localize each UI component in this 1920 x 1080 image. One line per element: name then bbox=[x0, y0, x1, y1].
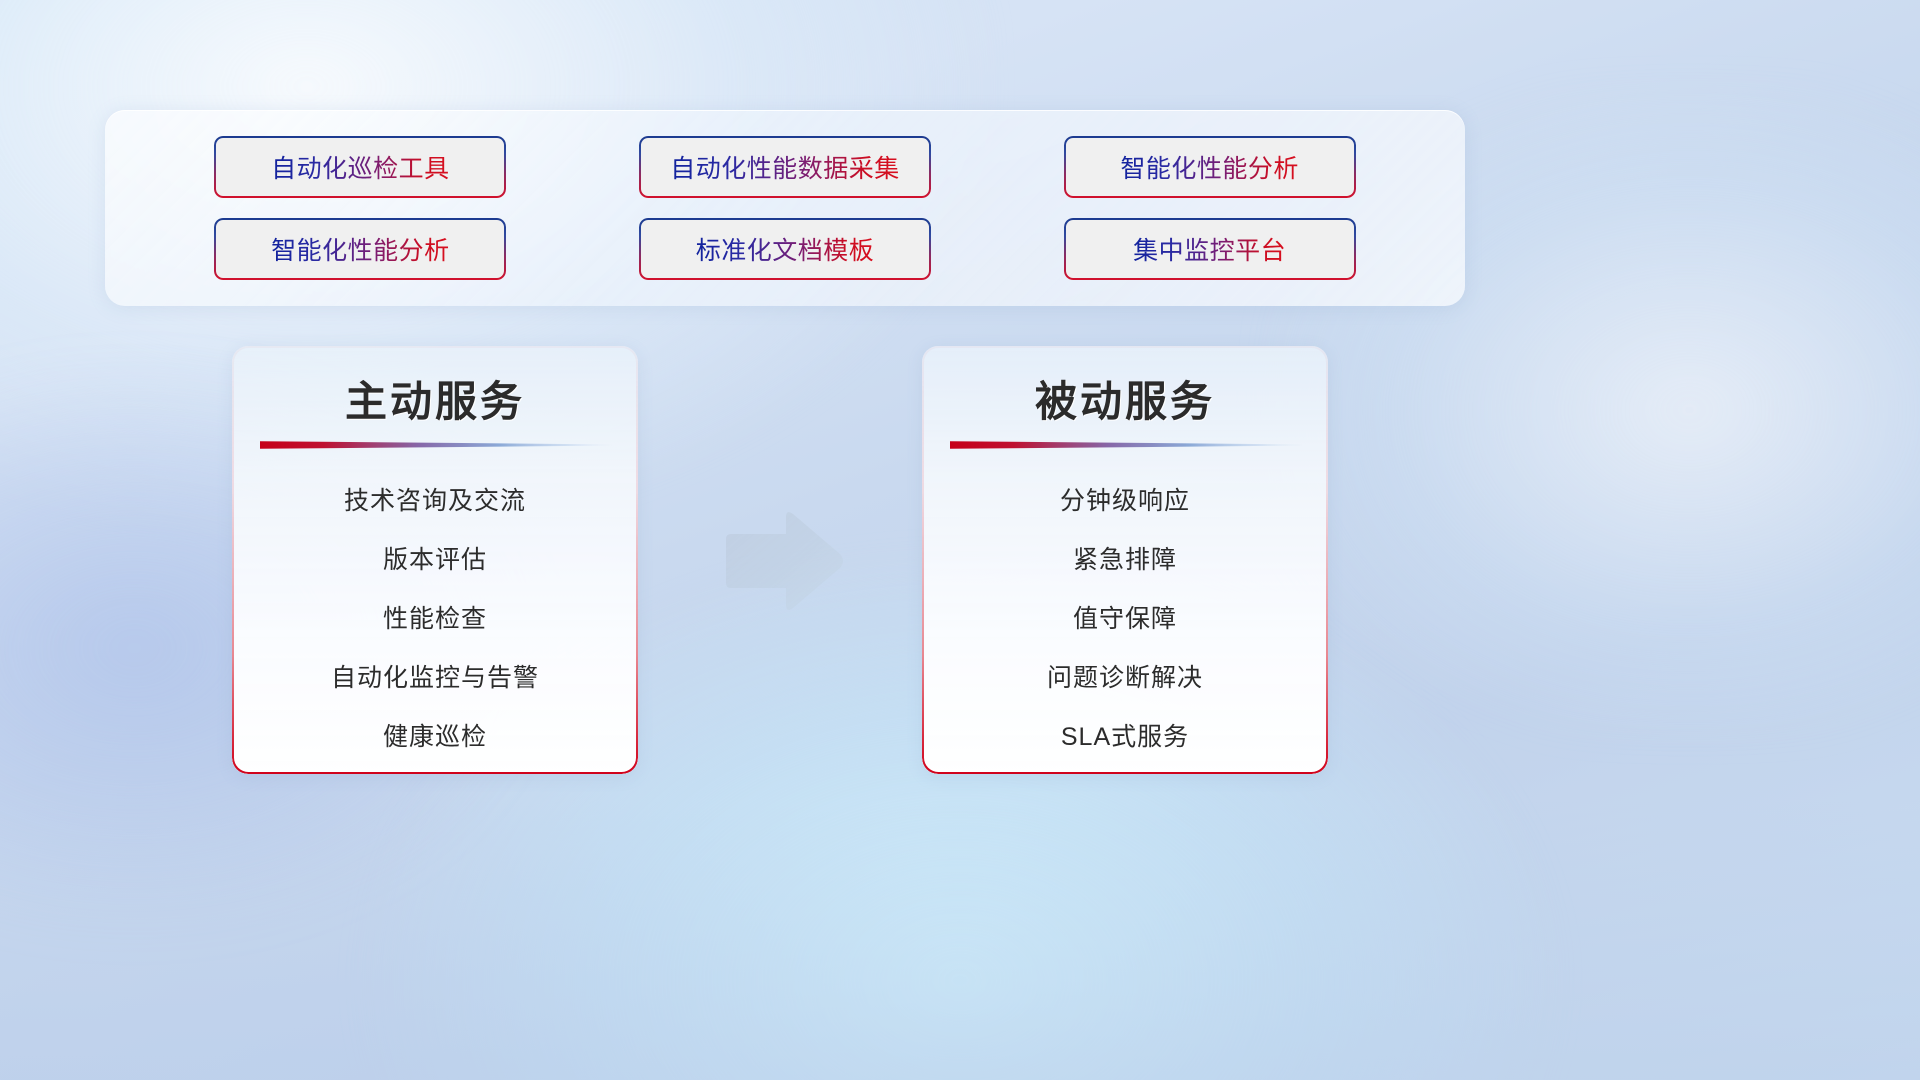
service-card-passive: 被动服务 分钟级响应 紧急排障 值守保障 问题诊断解决 SLA式服务 bbox=[922, 346, 1328, 774]
service-list-item: 版本评估 bbox=[383, 531, 487, 590]
capability-tag-label: 智能化性能分析 bbox=[271, 231, 450, 267]
capability-tag-label: 集中监控平台 bbox=[1133, 231, 1286, 267]
service-card-title: 被动服务 bbox=[922, 368, 1328, 429]
service-card-active: 主动服务 技术咨询及交流 版本评估 性能检查 自动化监控与告警 健康巡检 bbox=[232, 346, 638, 774]
service-list-item: 问题诊断解决 bbox=[1047, 649, 1203, 708]
capabilities-panel: 自动化巡检工具 自动化性能数据采集 智能化性能分析 智能化性能分析 标准化文档模… bbox=[105, 110, 1465, 306]
service-list-item: 分钟级响应 bbox=[1060, 472, 1190, 531]
service-card-list: 技术咨询及交流 版本评估 性能检查 自动化监控与告警 健康巡检 bbox=[232, 472, 638, 767]
capability-tag-5[interactable]: 集中监控平台 bbox=[1064, 218, 1356, 280]
service-list-item: 性能检查 bbox=[383, 590, 487, 649]
service-card-title: 主动服务 bbox=[232, 368, 638, 429]
service-list-item: 值守保障 bbox=[1073, 590, 1177, 649]
service-list-item: SLA式服务 bbox=[1061, 708, 1189, 767]
capability-tag-label: 标准化文档模板 bbox=[696, 231, 875, 267]
service-list-item: 技术咨询及交流 bbox=[344, 472, 526, 531]
capability-tag-2[interactable]: 智能化性能分析 bbox=[1064, 136, 1356, 198]
capability-tag-grid: 自动化巡检工具 自动化性能数据采集 智能化性能分析 智能化性能分析 标准化文档模… bbox=[105, 110, 1465, 306]
card-divider-wedge bbox=[950, 438, 1302, 452]
capability-tag-label: 智能化性能分析 bbox=[1120, 149, 1299, 185]
background-bottom-shade bbox=[0, 799, 1920, 1080]
service-card-list: 分钟级响应 紧急排障 值守保障 问题诊断解决 SLA式服务 bbox=[922, 472, 1328, 767]
service-list-item: 健康巡检 bbox=[383, 708, 487, 767]
arrow-right-icon bbox=[718, 506, 848, 616]
capability-tag-0[interactable]: 自动化巡检工具 bbox=[214, 136, 506, 198]
capability-tag-label: 自动化巡检工具 bbox=[271, 149, 450, 185]
capability-tag-1[interactable]: 自动化性能数据采集 bbox=[639, 136, 931, 198]
card-divider-wedge bbox=[260, 438, 612, 452]
capability-tag-label: 自动化性能数据采集 bbox=[670, 149, 900, 185]
service-list-item: 紧急排障 bbox=[1073, 531, 1177, 590]
capability-tag-4[interactable]: 标准化文档模板 bbox=[639, 218, 931, 280]
capability-tag-3[interactable]: 智能化性能分析 bbox=[214, 218, 506, 280]
service-list-item: 自动化监控与告警 bbox=[331, 649, 539, 708]
